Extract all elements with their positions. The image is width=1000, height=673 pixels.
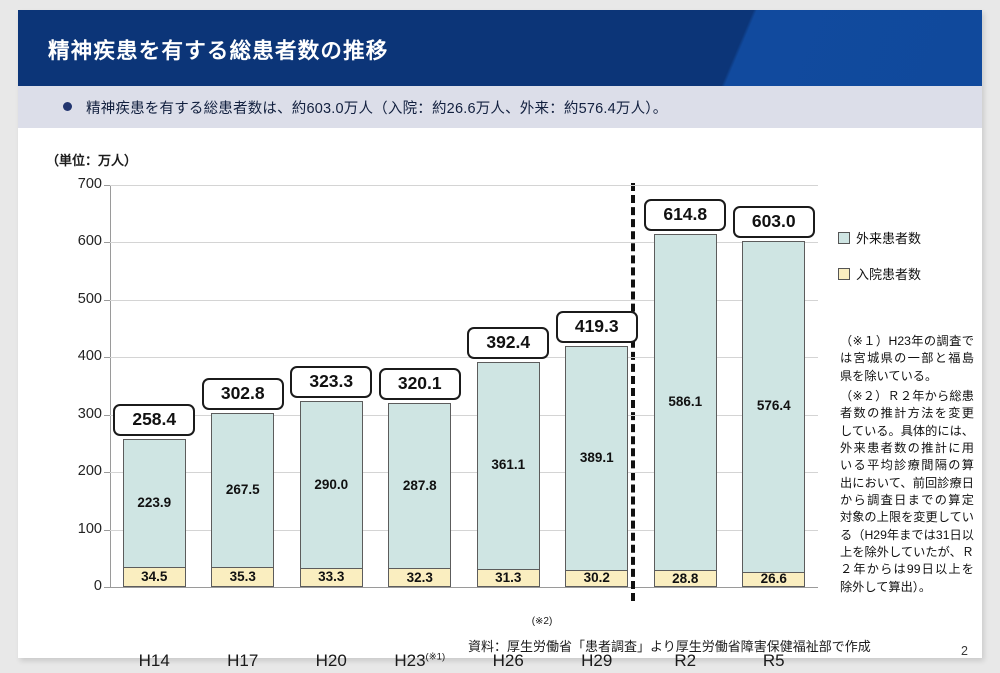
bar-segment-inpatient[interactable]: 26.6 — [742, 572, 805, 587]
subtitle-text: 精神疾患を有する総患者数は、約603.0万人（入院：約26.6万人、外来：約57… — [86, 97, 667, 118]
bar-total-badge: 614.8 — [644, 199, 726, 231]
bar-group[interactable]: 361.131.3 — [477, 362, 540, 587]
legend-item-inpatient[interactable]: 入院患者数 — [838, 264, 978, 283]
y-axis-tickmark — [104, 300, 110, 301]
legend-swatch-icon — [838, 268, 850, 280]
bar-segment-inpatient[interactable]: 34.5 — [123, 567, 186, 587]
bar-value-inpatient: 26.6 — [743, 571, 804, 586]
bar-segment-outpatient[interactable]: 361.1 — [477, 362, 540, 569]
chart-legend: 外来患者数入院患者数 — [838, 228, 978, 300]
bar-group[interactable]: 287.832.3 — [388, 403, 451, 587]
bar-value-inpatient: 33.3 — [301, 569, 362, 584]
bar-segment-inpatient[interactable]: 31.3 — [477, 569, 540, 587]
bar-value-inpatient: 30.2 — [566, 570, 627, 585]
page-number: 2 — [961, 644, 968, 658]
y-axis-tickmark — [104, 530, 110, 531]
legend-swatch-icon — [838, 232, 850, 244]
y-axis-tickmark — [104, 472, 110, 473]
method-change-divider — [631, 183, 635, 601]
bar-value-inpatient: 28.8 — [655, 571, 716, 586]
page-title: 精神疾患を有する総患者数の推移 — [48, 34, 389, 65]
slide-header: 精神疾患を有する総患者数の推移 — [18, 10, 982, 86]
y-axis-tickmark — [104, 242, 110, 243]
slide: 精神疾患を有する総患者数の推移 精神疾患を有する総患者数は、約603.0万人（入… — [18, 10, 982, 658]
bar-group[interactable]: 223.934.5 — [123, 439, 186, 587]
bar-group[interactable]: 389.130.2 — [565, 346, 628, 587]
bar-value-inpatient: 31.3 — [478, 570, 539, 585]
bar-value-inpatient: 32.3 — [389, 570, 450, 585]
bar-total-badge: 603.0 — [733, 206, 815, 238]
bar-total-badge: 302.8 — [202, 378, 284, 410]
bar-value-outpatient: 586.1 — [655, 394, 716, 409]
bar-segment-inpatient[interactable]: 33.3 — [300, 568, 363, 587]
bar-group[interactable]: 576.426.6 — [742, 241, 805, 587]
divider-note-label: (※2) — [512, 616, 572, 627]
bar-segment-outpatient[interactable]: 287.8 — [388, 403, 451, 568]
bar-value-outpatient: 223.9 — [124, 495, 185, 510]
footnote-2: （※２）Ｒ２年から総患者数の推計方法を変更している。具体的には、外来患者数の推計… — [840, 388, 974, 596]
bar-segment-outpatient[interactable]: 389.1 — [565, 346, 628, 569]
bar-segment-outpatient[interactable]: 267.5 — [211, 413, 274, 567]
bar-value-outpatient: 576.4 — [743, 398, 804, 413]
gridline — [110, 185, 818, 186]
y-axis-tickmark — [104, 185, 110, 186]
bullet-icon — [63, 102, 72, 111]
x-axis-line — [110, 587, 818, 588]
y-axis-tick: 700 — [56, 176, 102, 192]
bar-segment-inpatient[interactable]: 35.3 — [211, 567, 274, 587]
bar-value-inpatient: 34.5 — [124, 569, 185, 584]
bar-total-badge: 419.3 — [556, 311, 638, 343]
bar-group[interactable]: 267.535.3 — [211, 413, 274, 587]
bar-group[interactable]: 290.033.3 — [300, 401, 363, 587]
y-axis-unit-label: （単位：万人） — [46, 150, 137, 169]
bar-segment-outpatient[interactable]: 290.0 — [300, 401, 363, 568]
bar-segment-outpatient[interactable]: 576.4 — [742, 241, 805, 572]
bar-value-outpatient: 389.1 — [566, 450, 627, 465]
bar-total-badge: 258.4 — [113, 404, 195, 436]
y-axis-tickmark — [104, 415, 110, 416]
y-axis-tick: 0 — [56, 578, 102, 594]
y-axis-tick-labels: 0100200300400500600700 — [50, 185, 102, 587]
header-diagonal-accent — [652, 10, 982, 86]
source-note: 資料：厚生労働省「患者調査」より厚生労働省障害保健福祉部で作成 — [468, 636, 871, 655]
plot-area: 223.934.5258.4H14267.535.3302.8H17290.03… — [110, 185, 818, 587]
bar-group[interactable]: 586.128.8 — [654, 234, 717, 587]
bar-total-badge: 323.3 — [290, 366, 372, 398]
y-axis-tick: 600 — [56, 233, 102, 249]
y-axis-tick: 100 — [56, 521, 102, 537]
chart-container: （単位：万人） 0100200300400500600700 223.934.5… — [18, 128, 982, 658]
y-axis-tick: 200 — [56, 463, 102, 479]
legend-label: 入院患者数 — [856, 264, 921, 283]
y-axis-tick: 500 — [56, 291, 102, 307]
bar-value-outpatient: 287.8 — [389, 478, 450, 493]
y-axis-tick: 400 — [56, 348, 102, 364]
bar-segment-outpatient[interactable]: 223.9 — [123, 439, 186, 568]
y-axis-tickmark — [104, 357, 110, 358]
bar-value-outpatient: 361.1 — [478, 457, 539, 472]
x-axis-label-footnote: (※1) — [426, 651, 446, 662]
legend-label: 外来患者数 — [856, 228, 921, 247]
bar-segment-outpatient[interactable]: 586.1 — [654, 234, 717, 571]
bar-value-outpatient: 290.0 — [301, 477, 362, 492]
bar-total-badge: 320.1 — [379, 368, 461, 400]
footnotes: （※１）H23年の調査では宮城県の一部と福島県を除いている。（※２）Ｒ２年から総… — [840, 333, 974, 599]
bar-value-outpatient: 267.5 — [212, 482, 273, 497]
bar-segment-inpatient[interactable]: 30.2 — [565, 570, 628, 587]
legend-item-outpatient[interactable]: 外来患者数 — [838, 228, 978, 247]
y-axis-tickmark — [104, 587, 110, 588]
bar-value-inpatient: 35.3 — [212, 569, 273, 584]
footnote-1: （※１）H23年の調査では宮城県の一部と福島県を除いている。 — [840, 333, 974, 385]
bar-total-badge: 392.4 — [467, 327, 549, 359]
bar-segment-inpatient[interactable]: 28.8 — [654, 570, 717, 587]
subtitle-band: 精神疾患を有する総患者数は、約603.0万人（入院：約26.6万人、外来：約57… — [18, 86, 982, 128]
y-axis-tick: 300 — [56, 406, 102, 422]
bar-segment-inpatient[interactable]: 32.3 — [388, 568, 451, 587]
